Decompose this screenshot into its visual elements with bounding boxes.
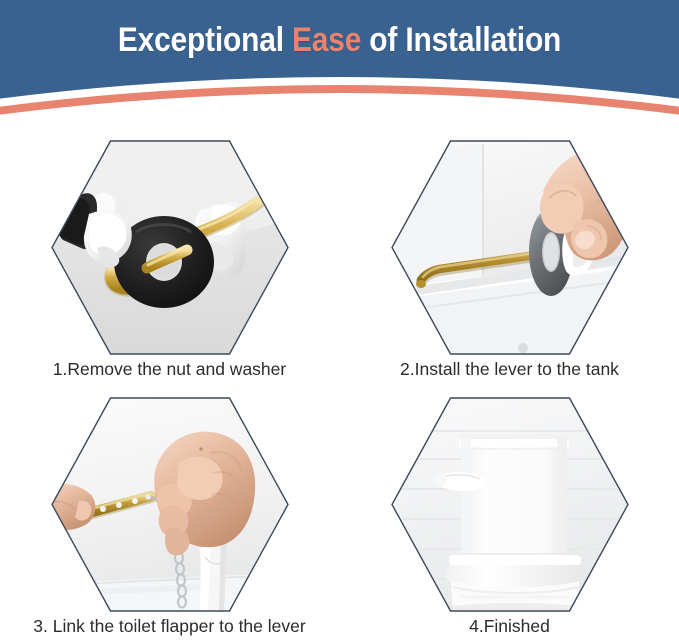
page-title-prefix: Exceptional <box>118 21 292 59</box>
step-image-1 <box>51 140 289 355</box>
step-caption-1: 1.Remove the nut and washer <box>0 358 339 380</box>
hexagon-photo-2 <box>391 140 629 355</box>
step-caption-4: 4.Finished <box>340 615 679 637</box>
step-caption-3: 3. Link the toilet flapper to the lever <box>0 615 339 637</box>
step-card-4: 4.Finished <box>340 387 679 644</box>
hexagon-photo-3 <box>51 397 289 612</box>
step-card-3: 3. Link the toilet flapper to the lever <box>0 387 339 644</box>
step-card-2: 2.Install the lever to the tank <box>340 130 679 387</box>
hexagon-photo-1 <box>51 140 289 355</box>
toilet-tank <box>459 435 569 553</box>
page-title-accent: Ease <box>292 21 361 59</box>
installation-infographic: Exceptional Ease of Installation <box>0 0 679 644</box>
header-banner: Exceptional Ease of Installation <box>0 0 679 130</box>
page-title: Exceptional Ease of Installation <box>41 20 639 60</box>
step-card-1: 1.Remove the nut and washer <box>0 130 339 387</box>
step-image-3 <box>51 397 289 612</box>
step-image-2 <box>391 140 629 355</box>
steps-grid: 1.Remove the nut and washer <box>0 130 679 644</box>
step-image-4 <box>391 397 629 612</box>
page-title-suffix: of Installation <box>361 21 561 59</box>
hexagon-photo-4 <box>391 397 629 612</box>
step-caption-2: 2.Install the lever to the tank <box>340 358 679 380</box>
